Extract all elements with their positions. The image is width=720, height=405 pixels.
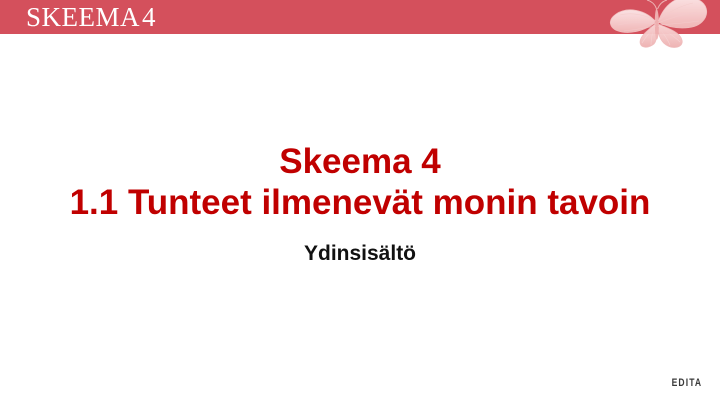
slide-canvas: SKEEMA4 xyxy=(0,0,720,405)
page-subtitle: Ydinsisältö xyxy=(0,241,720,266)
publisher-logo: EDITA xyxy=(671,377,702,389)
page-title-line-2: 1.1 Tunteet ilmenevät monin tavoin xyxy=(0,183,720,224)
title-block: Skeema 4 1.1 Tunteet ilmenevät monin tav… xyxy=(0,142,720,266)
page-title-line-1: Skeema 4 xyxy=(0,142,720,183)
brand-logo-number: 4 xyxy=(142,2,156,32)
brand-logo: SKEEMA4 xyxy=(26,2,156,32)
brand-logo-text: SKEEMA xyxy=(26,2,140,32)
header-banner: SKEEMA4 xyxy=(0,0,720,34)
